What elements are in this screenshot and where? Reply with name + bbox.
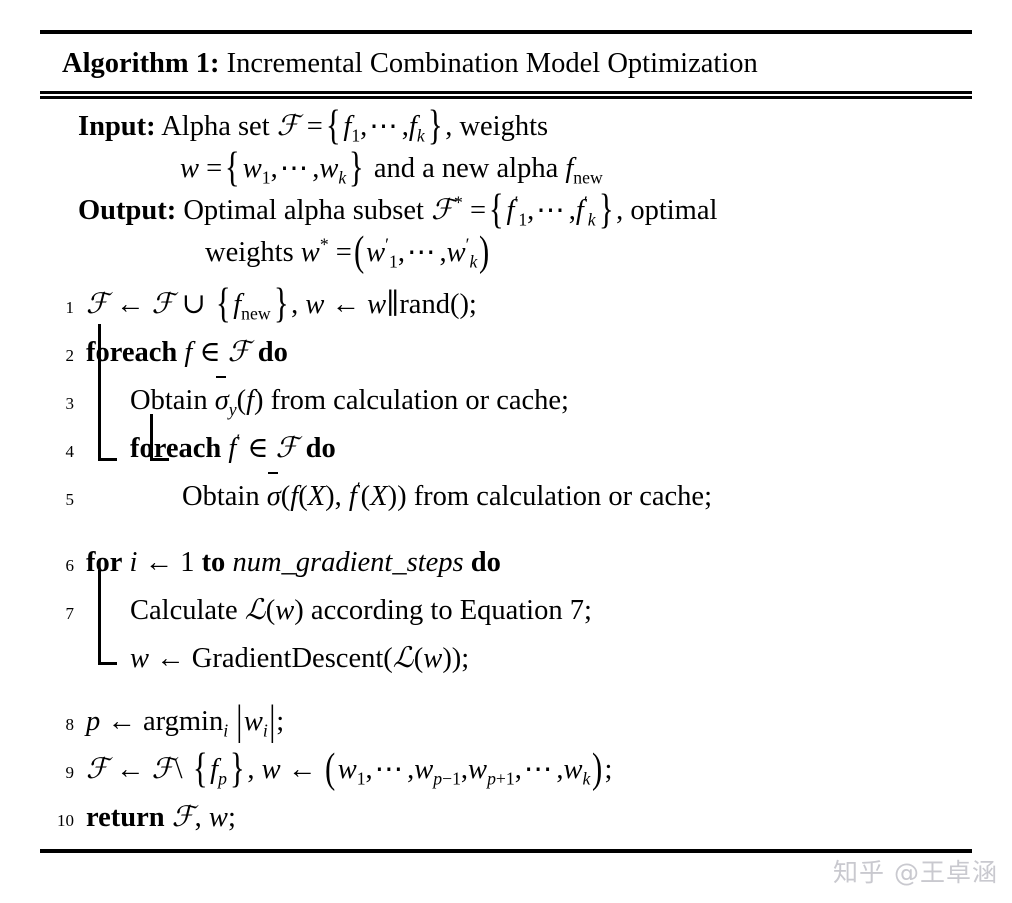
algorithm-line: 1 ℱ ← ℱ ∪ {fnew}, w ← w∥rand(); bbox=[40, 282, 972, 330]
input-text-new-alpha: and a new alpha bbox=[374, 153, 558, 184]
line-number: 6 bbox=[40, 543, 74, 588]
keyword-obtain: Obtain bbox=[182, 481, 260, 512]
output-label: Output: bbox=[78, 195, 176, 226]
line-number: 1 bbox=[40, 285, 74, 330]
keyword-foreach: foreach bbox=[130, 433, 221, 464]
line-code: Obtain σy(f) from calculation or cache; bbox=[74, 378, 972, 423]
keyword-do: do bbox=[471, 547, 501, 578]
phrase-from-cache: from calculation or cache; bbox=[414, 481, 712, 512]
line-number: 3 bbox=[40, 381, 74, 426]
line-number: 9 bbox=[40, 750, 74, 795]
keyword-obtain: Obtain bbox=[130, 385, 208, 416]
phrase-equation-7: according to Equation 7; bbox=[311, 595, 592, 626]
variable-num-gradient-steps: num_gradient_steps bbox=[232, 547, 463, 578]
equals-sign: = bbox=[307, 111, 323, 142]
input-text-alpha-set: Alpha set bbox=[161, 111, 269, 142]
symbol-script-F: ℱ bbox=[277, 111, 300, 142]
line-code: Calculate ℒ(w) according to Equation 7; bbox=[74, 588, 972, 633]
symbol-w-star: w bbox=[301, 237, 320, 268]
line-number: 8 bbox=[40, 702, 74, 747]
ellipsis: ⋯ bbox=[367, 111, 402, 142]
line-code: foreach f′ ∈ ℱ do bbox=[74, 426, 972, 471]
symbol-fk: f bbox=[409, 111, 417, 142]
output-text-weights: weights bbox=[205, 237, 294, 268]
ellipsis-3: ⋯ bbox=[534, 195, 569, 226]
zhihu-watermark: 知乎 @王卓涵 bbox=[833, 860, 998, 885]
keyword-do: do bbox=[258, 337, 288, 368]
line-code: ℱ ← ℱ ∪ {fnew}, w ← w∥rand(); bbox=[74, 282, 972, 327]
algorithm-line: 8 p ← argmini |wi|; bbox=[40, 699, 972, 747]
line-number: 10 bbox=[40, 798, 74, 843]
keyword-do: do bbox=[306, 433, 336, 464]
line-number: 7 bbox=[40, 591, 74, 636]
algorithm-body: 1 ℱ ← ℱ ∪ {fnew}, w ← w∥rand(); 2 foreac… bbox=[40, 278, 972, 849]
algorithm-caption: Algorithm 1: Incremental Combination Mod… bbox=[40, 34, 972, 91]
function-gradient-descent: GradientDescent bbox=[192, 643, 384, 674]
line-number: 4 bbox=[40, 429, 74, 474]
keyword-for: for bbox=[86, 547, 122, 578]
algorithm-block: Algorithm 1: Incremental Combination Mod… bbox=[40, 30, 972, 853]
line-number: 2 bbox=[40, 333, 74, 378]
keyword-foreach: foreach bbox=[86, 337, 177, 368]
algorithm-line: w ← GradientDescent(ℒ(w)); bbox=[40, 636, 972, 681]
keyword-return: return bbox=[86, 802, 165, 833]
header-double-rule bbox=[40, 91, 972, 99]
equals-sign-2: = bbox=[206, 153, 222, 184]
function-argmin: argmin bbox=[143, 706, 223, 737]
symbol-w: w bbox=[180, 153, 199, 184]
bottom-rule bbox=[40, 849, 972, 853]
input-label: Input: bbox=[78, 111, 156, 142]
io-block: Input: Alpha set ℱ ={f1,⋯,fk}, weights w… bbox=[40, 99, 972, 278]
output-line-2: weights w* =(w′1,⋯,w′k) bbox=[40, 232, 972, 274]
line-code: for i ← 1 to num_gradient_steps do bbox=[74, 540, 972, 585]
block-spacer bbox=[40, 522, 972, 540]
keyword-to: to bbox=[202, 547, 226, 578]
phrase-from-cache: from calculation or cache; bbox=[271, 385, 569, 416]
output-text-subset: Optimal alpha subset bbox=[183, 195, 424, 226]
algorithm-line: 7 Calculate ℒ(w) according to Equation 7… bbox=[40, 588, 972, 636]
output-line-1: Output: Optimal alpha subset ℱ* ={f′1,⋯,… bbox=[40, 190, 972, 232]
algorithm-line: 6 for i ← 1 to num_gradient_steps do bbox=[40, 540, 972, 588]
algorithm-line: 3 Obtain σy(f) from calculation or cache… bbox=[40, 378, 972, 426]
equals-sign-3: = bbox=[470, 195, 486, 226]
line-number: 5 bbox=[40, 477, 74, 522]
line-code: Obtain σ(f(X), f′(X)) from calculation o… bbox=[74, 474, 972, 519]
line-code: ℱ ← ℱ\ {fp}, w ← (w1,⋯,wp−1,wp+1,⋯,wk); bbox=[74, 747, 972, 792]
input-text-weights: weights bbox=[459, 111, 548, 142]
output-text-optimal: optimal bbox=[630, 195, 717, 226]
ellipsis-4: ⋯ bbox=[405, 237, 440, 268]
algorithm-line: 4 foreach f′ ∈ ℱ do bbox=[40, 426, 972, 474]
ellipsis-2: ⋯ bbox=[278, 153, 313, 184]
symbol-script-F-star: ℱ bbox=[431, 195, 454, 226]
input-line-1: Input: Alpha set ℱ ={f1,⋯,fk}, weights bbox=[40, 106, 972, 148]
block-spacer bbox=[40, 681, 972, 699]
line-code: return ℱ, w; bbox=[74, 795, 972, 840]
keyword-calculate: Calculate bbox=[130, 595, 238, 626]
algorithm-label: Algorithm 1: bbox=[62, 48, 220, 79]
algorithm-line: 9 ℱ ← ℱ\ {fp}, w ← (w1,⋯,wp−1,wp+1,⋯,wk)… bbox=[40, 747, 972, 795]
algorithm-line: 2 foreach f ∈ ℱ do bbox=[40, 330, 972, 378]
algorithm-line: 5 Obtain σ(f(X), f′(X)) from calculation… bbox=[40, 474, 972, 522]
line-code: foreach f ∈ ℱ do bbox=[74, 330, 972, 375]
algorithm-line: 10 return ℱ, w; bbox=[40, 795, 972, 843]
algorithm-title: Incremental Combination Model Optimizati… bbox=[227, 48, 758, 79]
equals-sign-4: = bbox=[336, 237, 352, 268]
input-line-2: w ={w1,⋯,wk} and a new alpha fnew bbox=[40, 148, 972, 190]
line-code: p ← argmini |wi|; bbox=[74, 699, 972, 744]
subscript-new: new bbox=[573, 168, 602, 188]
line-code: w ← GradientDescent(ℒ(w)); bbox=[74, 636, 972, 681]
